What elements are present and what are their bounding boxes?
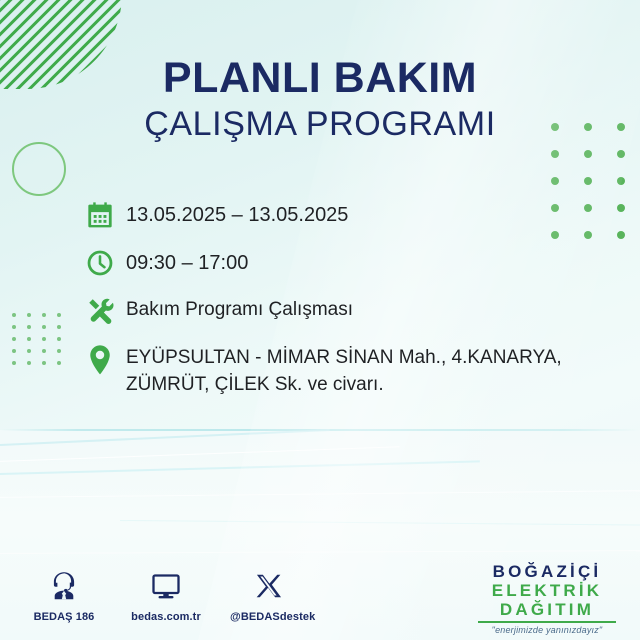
logo-line-2: ELEKTRİK [472,581,622,600]
logo-rule [478,621,616,623]
logo-line-1: BOĞAZİÇİ [472,562,622,581]
company-logo: BOĞAZİÇİ ELEKTRİK DAĞITIM "enerjimizde y… [472,562,622,635]
work-type-value: Bakım Programı Çalışması [126,294,353,324]
clock-icon [86,246,126,280]
time-value: 09:30 – 17:00 [126,246,248,277]
dot-grid-decoration-left [12,313,72,373]
contact-website-label: bedas.com.tr [128,611,204,623]
contact-social[interactable]: @BEDASdestek [230,566,306,623]
date-value: 13.05.2025 – 13.05.2025 [126,198,348,229]
detail-row-time: 09:30 – 17:00 [86,246,606,280]
tools-icon [86,294,126,328]
contact-social-label: @BEDASdestek [230,611,306,623]
support-headset-icon [26,566,102,606]
contact-phone[interactable]: BEDAŞ 186 [26,566,102,623]
calendar-icon [86,198,126,232]
footer: BEDAŞ 186 bedas.com.tr [0,550,640,640]
detail-row-work-type: Bakım Programı Çalışması [86,294,606,328]
logo-tagline: "enerjimizde yanınızdayız" [472,625,622,635]
title-line-2: ÇALIŞMA PROGRAMI [0,107,640,143]
x-twitter-icon [230,566,306,606]
detail-row-date: 13.05.2025 – 13.05.2025 [86,198,606,232]
location-pin-icon [86,342,126,378]
maintenance-details: 13.05.2025 – 13.05.2025 09:30 – 17:00 Ba… [86,198,606,399]
logo-line-3: DAĞITIM [472,600,622,619]
contact-channels: BEDAŞ 186 bedas.com.tr [26,566,306,623]
title-line-1: PLANLI BAKIM [0,56,640,101]
location-line-2: ZÜMRÜT, ÇİLEK Sk. ve civarı. [126,372,562,399]
planned-maintenance-poster: PLANLI BAKIM ÇALIŞMA PROGRAMI [0,0,640,640]
contact-phone-label: BEDAŞ 186 [26,611,102,623]
contact-website[interactable]: bedas.com.tr [128,566,204,623]
detail-row-location: EYÜPSULTAN - MİMAR SİNAN Mah., 4.KANARYA… [86,342,606,399]
monitor-icon [128,566,204,606]
page-title: PLANLI BAKIM ÇALIŞMA PROGRAMI [0,56,640,143]
circle-outline-decoration [12,142,66,196]
location-value: EYÜPSULTAN - MİMAR SİNAN Mah., 4.KANARYA… [126,342,562,399]
location-line-1: EYÜPSULTAN - MİMAR SİNAN Mah., 4.KANARYA… [126,345,562,372]
